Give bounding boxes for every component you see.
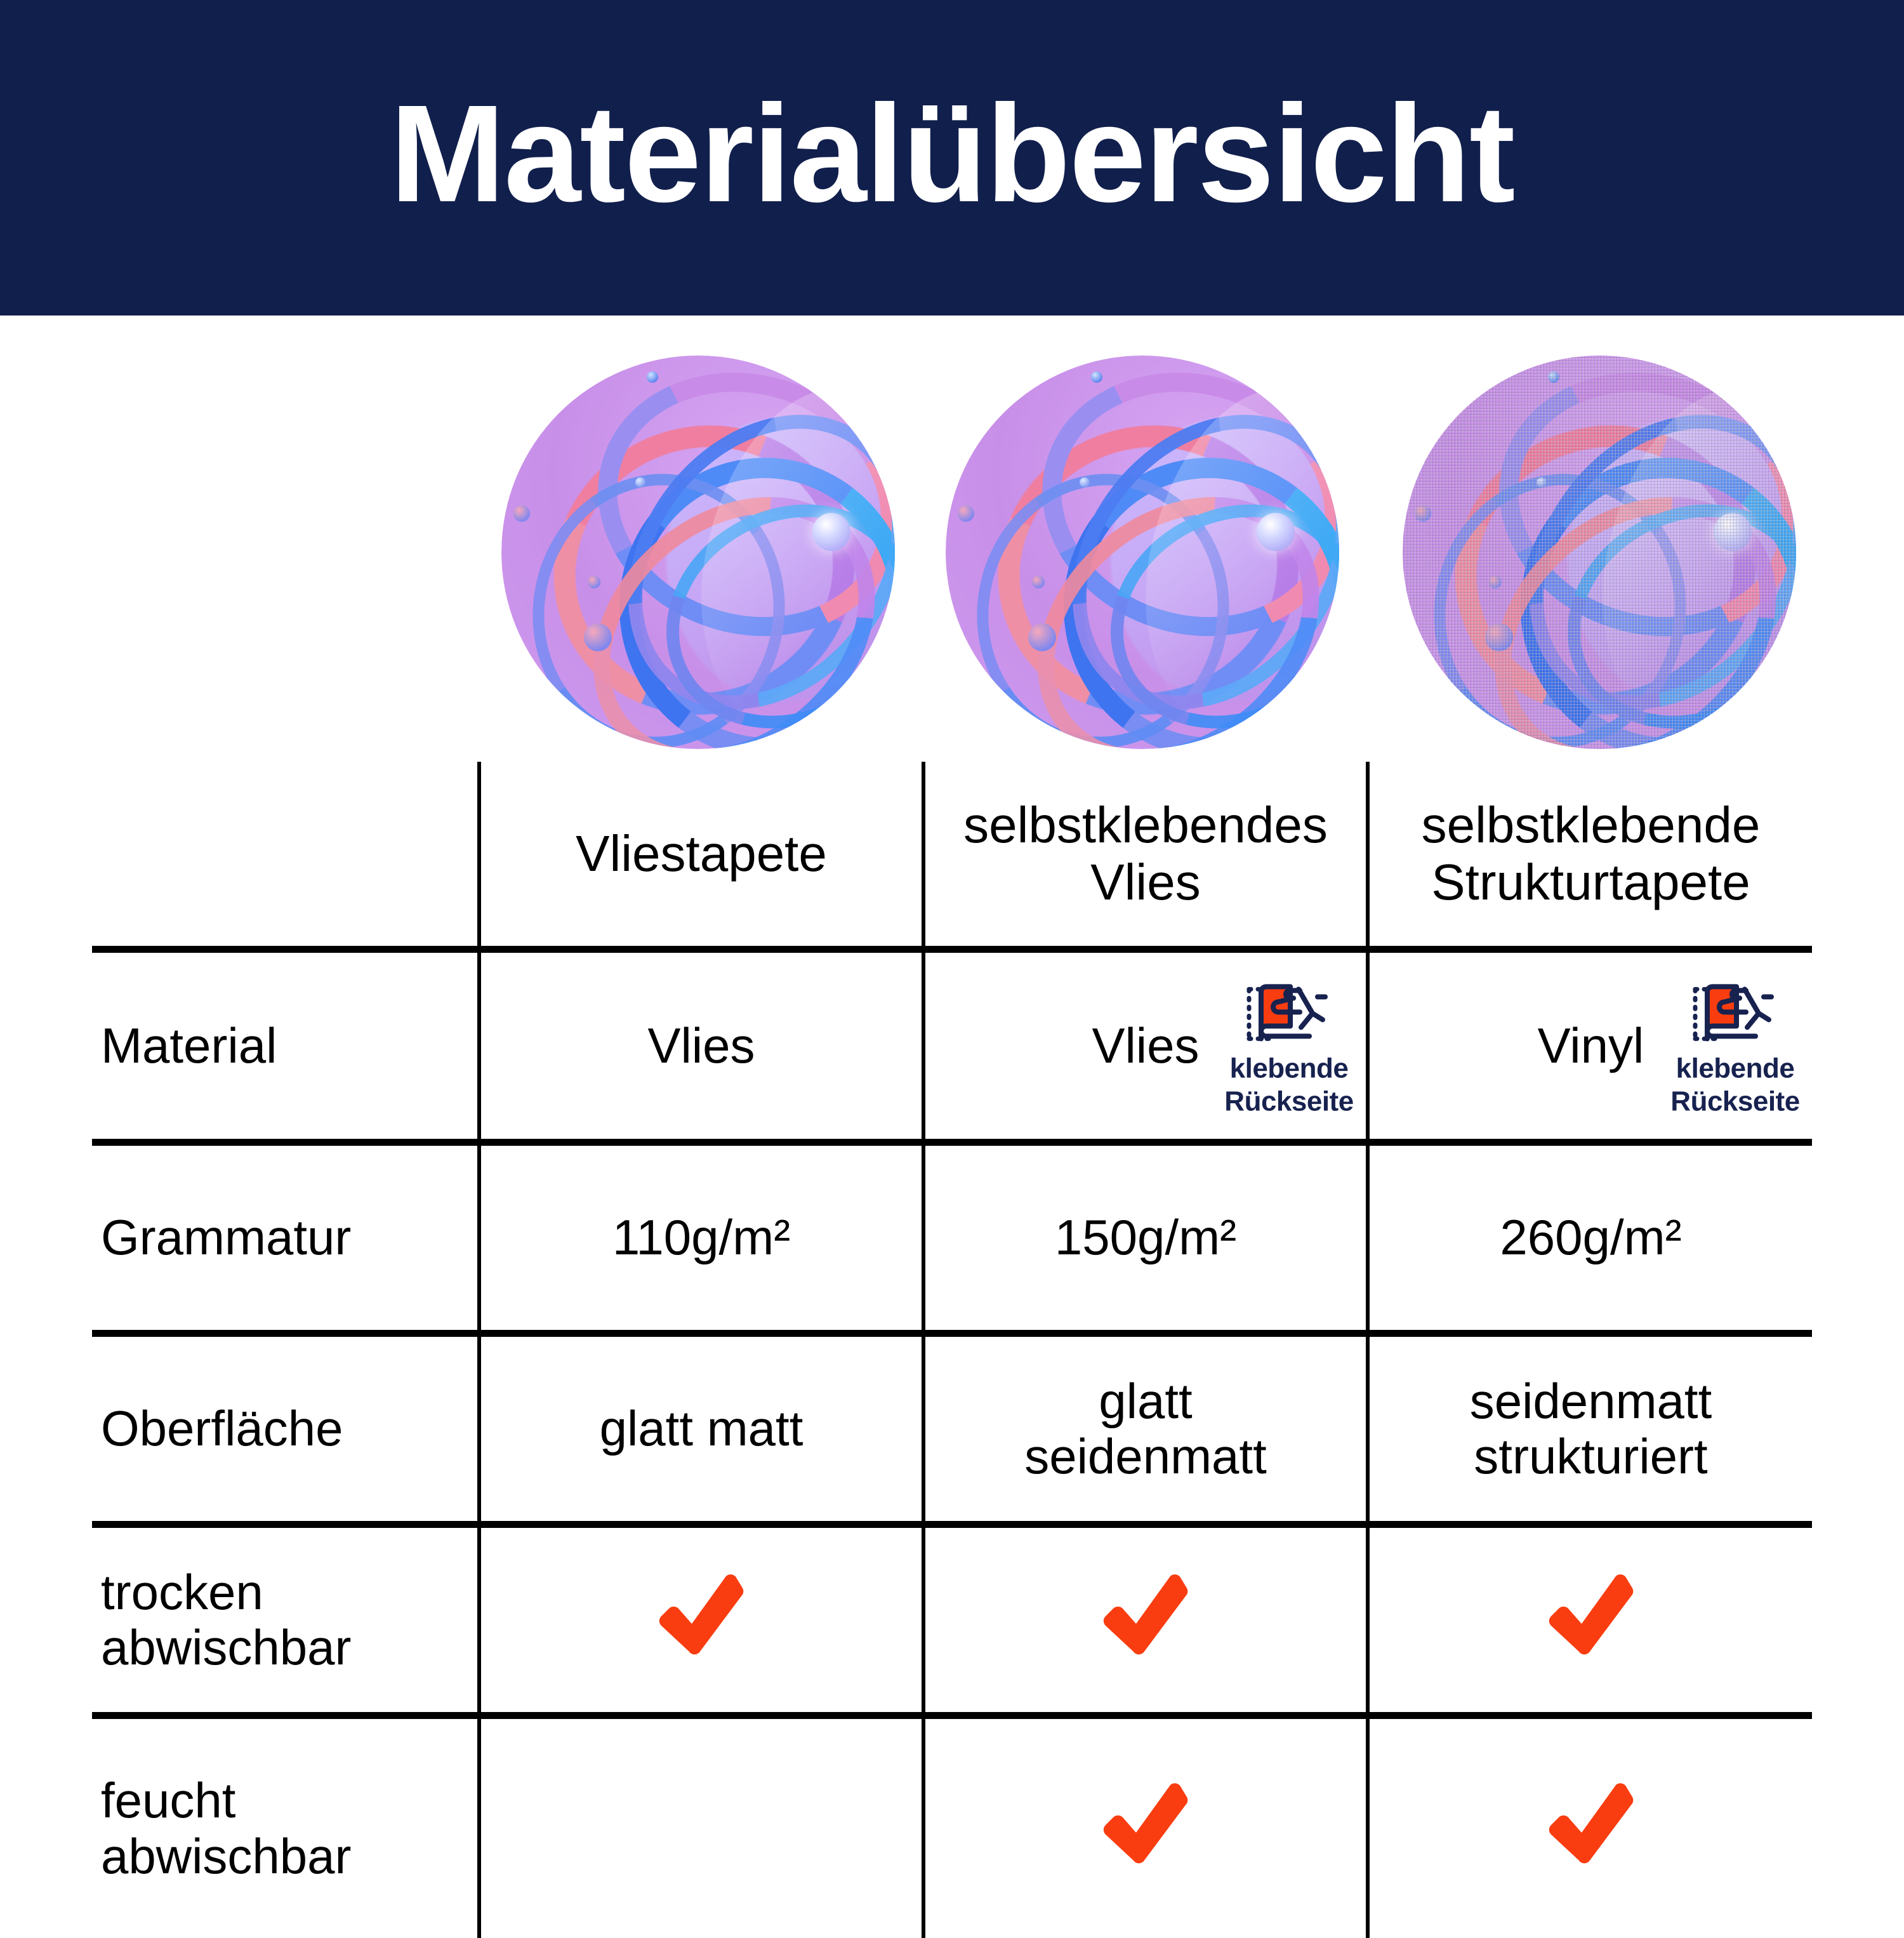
table-row: feucht abwischbar — [92, 1716, 1812, 1938]
row-label-grammatur: Grammatur — [92, 1143, 479, 1334]
header-cell-selbstklebende-strukturtapete: selbstklebende Strukturtapete — [1368, 762, 1812, 950]
cell-value: 110g/m² — [612, 1209, 790, 1265]
cell-material-vliestapete: Vlies — [479, 950, 923, 1143]
abstract-3d-swirl-icon — [946, 355, 1339, 749]
cell-oberflaeche-vliestapete: glatt matt — [479, 1334, 923, 1525]
row-label-oberflaeche: Oberfläche — [92, 1334, 479, 1525]
header-cell-empty — [92, 762, 479, 950]
badge-line-2: Rückseite — [1670, 1087, 1799, 1117]
product-image-vliestapete — [501, 355, 895, 749]
header-bar: Materialübersicht — [0, 0, 1904, 315]
column-header-label: selbstklebendes Vlies — [934, 797, 1357, 910]
header-cell-vliestapete: Vliestapete — [479, 762, 923, 950]
row-label-feucht-abwischbar: feucht abwischbar — [92, 1716, 479, 1938]
peel-adhesive-backing-icon — [1241, 975, 1337, 1050]
cell-value: Vlies — [1092, 1018, 1199, 1073]
column-header-label: Vliestapete — [490, 825, 913, 882]
checkmark-icon — [1098, 1779, 1193, 1868]
cell-feucht-vliestapete — [479, 1716, 923, 1938]
cell-grammatur-selbstklebende-strukturtapete: 260g/m² — [1368, 1143, 1812, 1334]
table-row: Grammatur 110g/m² 150g/m² 260g/m² — [92, 1143, 1812, 1334]
cell-value: glatt matt — [600, 1400, 803, 1456]
badge-line-1: klebende — [1230, 1054, 1349, 1084]
abstract-3d-swirl-icon — [501, 355, 895, 749]
cell-value: 260g/m² — [1500, 1209, 1681, 1265]
cell-trocken-selbstklebende-strukturtapete — [1368, 1525, 1812, 1716]
cell-grammatur-selbstklebendes-vlies: 150g/m² — [923, 1143, 1368, 1334]
product-image-selbstklebende-strukturtapete — [1403, 355, 1796, 749]
checkmark-icon — [1098, 1570, 1193, 1659]
abstract-3d-swirl-textured-icon — [1403, 355, 1796, 749]
cell-value: glatt seidenmatt — [1024, 1373, 1267, 1484]
cell-trocken-selbstklebendes-vlies — [923, 1525, 1368, 1716]
column-header-label: selbstklebende Strukturtapete — [1378, 797, 1803, 910]
cell-trocken-vliestapete — [479, 1525, 923, 1716]
cell-oberflaeche-selbstklebendes-vlies: glatt seidenmatt — [923, 1334, 1368, 1525]
badge-line-2: Rückseite — [1224, 1087, 1353, 1117]
cell-value: Vinyl — [1538, 1018, 1644, 1073]
row-label-trocken-abwischbar: trocken abwischbar — [92, 1525, 479, 1716]
cell-value: seidenmatt strukturiert — [1470, 1373, 1712, 1484]
page-title: Materialübersicht — [390, 85, 1514, 223]
cell-material-selbstklebende-strukturtapete: Vinyl kleb — [1368, 950, 1812, 1143]
row-label-material: Material — [92, 950, 479, 1143]
badge-line-1: klebende — [1676, 1054, 1795, 1084]
cell-value: 150g/m² — [1055, 1209, 1236, 1265]
cell-oberflaeche-selbstklebende-strukturtapete: seidenmatt strukturiert — [1368, 1334, 1812, 1525]
adhesive-backing-badge: klebende Rückseite — [1662, 975, 1808, 1117]
adhesive-backing-badge: klebende Rückseite — [1216, 975, 1362, 1117]
cell-value: Vlies — [647, 1018, 755, 1073]
table-row: Material Vlies Vlies — [92, 950, 1812, 1143]
product-image-selbstklebendes-vlies — [946, 355, 1339, 749]
cell-feucht-selbstklebende-strukturtapete — [1368, 1716, 1812, 1938]
checkmark-icon — [1544, 1779, 1639, 1868]
header-cell-selbstklebendes-vlies: selbstklebendes Vlies — [923, 762, 1368, 950]
material-comparison-table: Vliestapete selbstklebendes Vlies selbst… — [92, 762, 1812, 1938]
cell-feucht-selbstklebendes-vlies — [923, 1716, 1368, 1938]
peel-adhesive-backing-icon — [1688, 975, 1783, 1050]
cell-grammatur-vliestapete: 110g/m² — [479, 1143, 923, 1334]
cell-material-selbstklebendes-vlies: Vlies kleb — [923, 950, 1368, 1143]
table-row: trocken abwischbar — [92, 1525, 1812, 1716]
checkmark-icon — [1544, 1570, 1639, 1659]
table-row: Oberfläche glatt matt glatt seidenmatt s… — [92, 1334, 1812, 1525]
table-header-row: Vliestapete selbstklebendes Vlies selbst… — [92, 762, 1812, 950]
checkmark-icon — [654, 1570, 749, 1659]
